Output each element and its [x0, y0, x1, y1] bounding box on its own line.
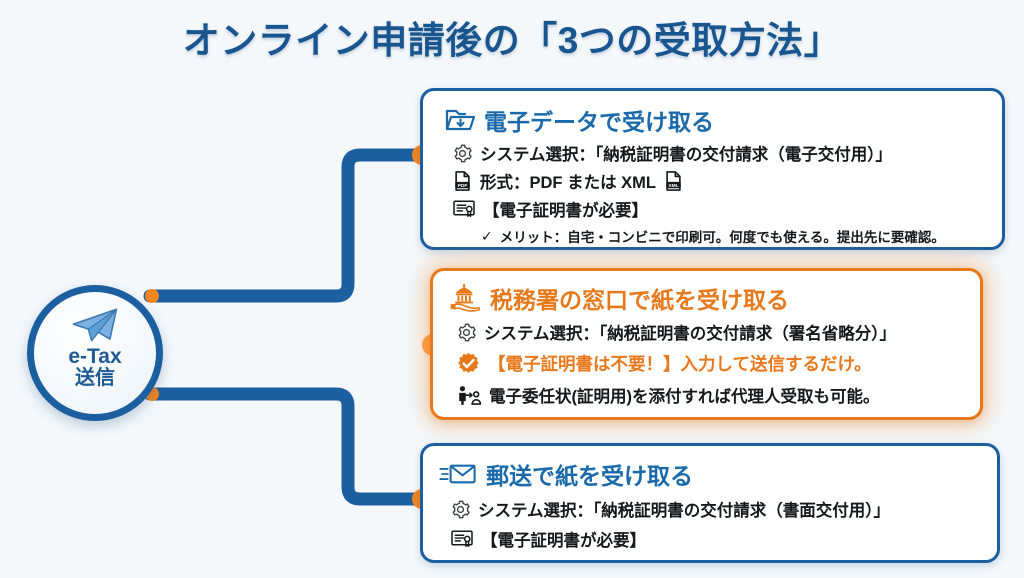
certificate-icon — [451, 530, 473, 549]
card-postal-mail-heading: 郵送で紙を受け取る — [486, 457, 693, 491]
junction-dot — [145, 289, 159, 303]
row-no-certificate-needed-text: 【電子証明書は不要！】入力して送信するだけ。 — [488, 351, 872, 376]
row-system-selection-text: システム選択：「納税証明書の交付請求（電子交付用）」 — [480, 141, 892, 165]
government-building-hand-icon — [449, 284, 481, 312]
flying-envelope-icon — [439, 462, 477, 486]
row-proxy-receipt-text: 電子委任状(証明用)を添付すれば代理人受取も可能。 — [489, 383, 880, 407]
row-certificate-required: 【電子証明書が必要】 — [453, 197, 1002, 221]
pdf-file-icon: PDF — [453, 171, 472, 191]
row-no-certificate-needed: 【電子証明書は不要！】入力して送信するだけ。 — [457, 351, 980, 376]
hub-label-line2: 送信 — [75, 368, 115, 389]
gear-icon — [457, 323, 476, 342]
etax-hub-node[interactable]: e-Tax 送信 — [27, 285, 163, 421]
verified-badge-icon — [457, 352, 480, 375]
svg-text:PDF: PDF — [458, 183, 468, 189]
gear-icon — [453, 144, 472, 163]
paper-plane-icon — [68, 306, 122, 344]
row-merit-note-text: メリット：自宅・コンビニで印刷可。何度でも使える。提出先に要確認。 — [500, 226, 945, 246]
row-merit-note: ✓ メリット：自宅・コンビニで印刷可。何度でも使える。提出先に要確認。 — [481, 226, 1002, 246]
certificate-icon — [453, 200, 475, 219]
row-system-selection-text: システム選択：「納税証明書の交付請求（署名省略分）」 — [484, 320, 896, 344]
card-electronic-data[interactable]: 電子データで受け取る システム選択：「納税証明書の交付請求（電子交付用）」 PD… — [420, 88, 1005, 250]
svg-text:XML: XML — [668, 183, 678, 189]
row-system-selection: システム選択：「納税証明書の交付請求（署名省略分）」 — [457, 320, 980, 344]
xml-file-icon: XML — [664, 171, 683, 191]
card-tax-office-counter[interactable]: 税務署の窓口で紙を受け取る システム選択：「納税証明書の交付請求（署名省略分）」… — [430, 268, 983, 420]
check-mark-icon: ✓ — [481, 228, 493, 245]
row-certificate-required-text: 【電子証明書が必要】 — [483, 197, 648, 221]
card-electronic-data-heading: 電子データで受け取る — [484, 103, 714, 137]
row-certificate-required: 【電子証明書が必要】 — [451, 527, 997, 551]
card-postal-mail[interactable]: 郵送で紙を受け取る システム選択：「納税証明書の交付請求（書面交付用）」 — [420, 443, 1000, 563]
hub-label-line1: e-Tax — [68, 346, 121, 368]
card-postal-mail-heading-row: 郵送で紙を受け取る — [439, 457, 997, 491]
row-proxy-receipt: 電子委任状(証明用)を添付すれば代理人受取も可能。 — [457, 383, 980, 407]
connector-to-postal-mail — [150, 394, 424, 499]
row-file-format-text: 形式：PDF または XML — [480, 169, 656, 193]
connector-to-electronic-data — [150, 155, 424, 296]
row-system-selection: システム選択：「納税証明書の交付請求（電子交付用）」 — [453, 141, 1002, 165]
card-tax-office-counter-heading-row: 税務署の窓口で紙を受け取る — [449, 281, 980, 315]
card-electronic-data-heading-row: 電子データで受け取る — [445, 103, 1002, 137]
row-system-selection-text: システム選択：「納税証明書の交付請求（書面交付用）」 — [478, 497, 890, 521]
row-certificate-required-text: 【電子証明書が必要】 — [481, 527, 646, 551]
folder-download-icon — [445, 107, 475, 133]
card-tax-office-counter-heading: 税務署の窓口で紙を受け取る — [490, 281, 789, 315]
row-system-selection: システム選択：「納税証明書の交付請求（書面交付用）」 — [451, 497, 997, 521]
infographic-canvas: オンライン申請後の「3つの受取方法」 — [0, 0, 1024, 578]
gear-icon — [451, 500, 470, 519]
row-file-format: PDF 形式：PDF または XML XML — [453, 169, 1002, 193]
delegate-people-icon — [457, 385, 481, 406]
